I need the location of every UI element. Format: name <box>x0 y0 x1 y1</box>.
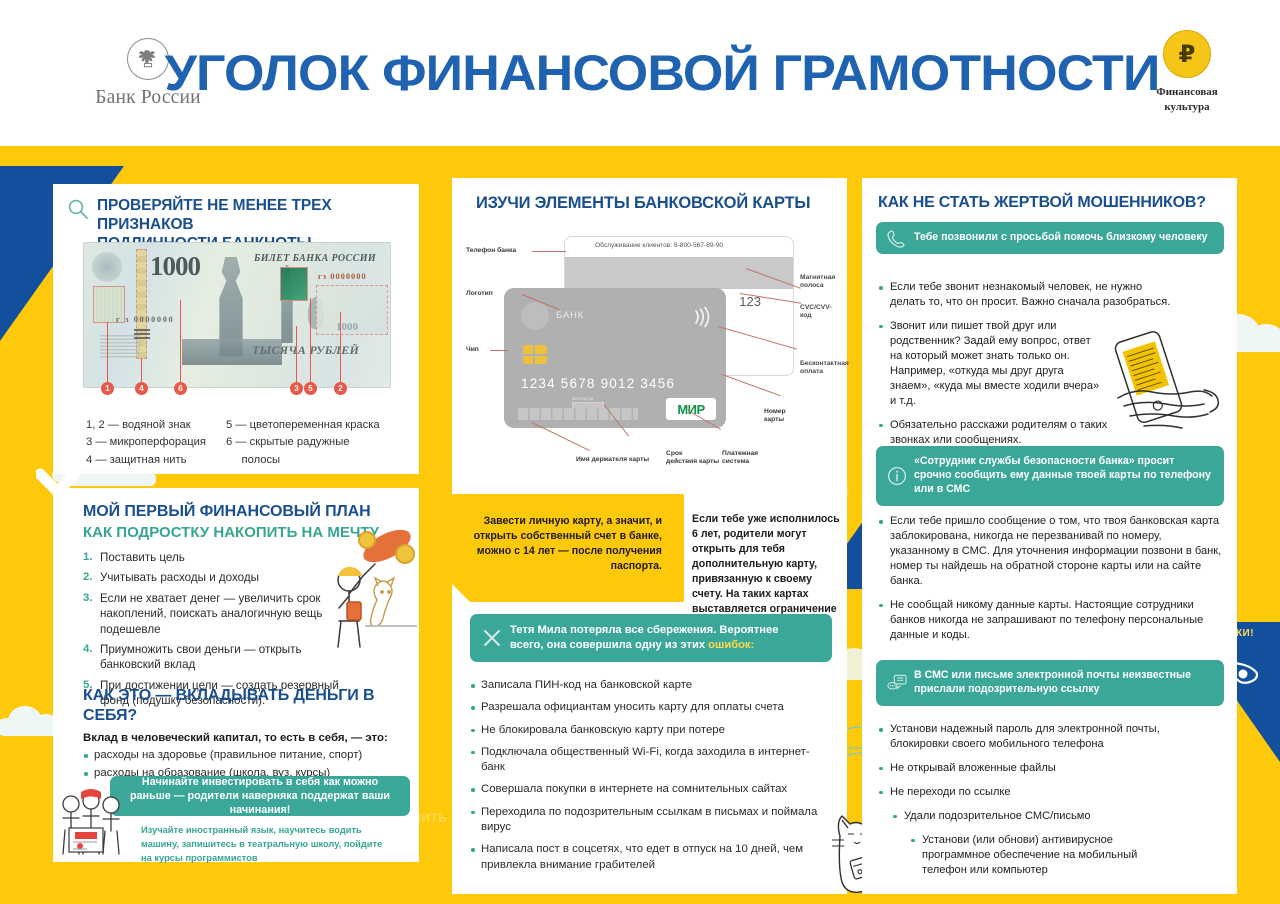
list-item: Записала ПИН-код на банковской карте <box>470 678 830 693</box>
leader-line-3 <box>296 326 297 382</box>
step-number: 3. <box>83 591 93 606</box>
fraud-list-1: Если тебе звонит незнакомый человек, не … <box>878 280 1178 457</box>
poster-header: Банк России УГОЛОК ФИНАНСОВОЙ ГРАМОТНОСТ… <box>0 0 1280 146</box>
leader-line-1 <box>107 322 108 382</box>
list-item: Установи (или обнови) антивирусное прогр… <box>910 833 1172 878</box>
list-item: Совершала покупки в интернете на сомните… <box>470 782 830 797</box>
plan-title: МОЙ ПЕРВЫЙ ФИНАНСОВЫЙ ПЛАН <box>83 502 393 522</box>
card-front: БАНК 1234 5678 9012 3456 месяц/год МИР <box>504 288 726 428</box>
finkult-label: Финансовая культура <box>1156 85 1217 115</box>
step-number: 4. <box>83 642 93 657</box>
card-diagram: Обслуживание клиентов: 8-800-567-89-90 К… <box>460 222 840 490</box>
list-item: Не переходи по ссылке <box>878 785 1218 800</box>
card-expiry-label: месяц/год <box>572 396 593 401</box>
list-item: Не сообщай никому данные карты. Настоящи… <box>878 598 1222 643</box>
poster-body: У МЕНЯ ЕСТЬМЕЧТА! ДЛЯ ЧЕГОКОПИТЬ? ПИН-КО… <box>0 146 1280 904</box>
label-logo: Логотип <box>466 290 493 298</box>
chat-icon <box>887 673 907 693</box>
step-number: 1. <box>83 550 93 565</box>
financial-plan-panel: МОЙ ПЕРВЫЙ ФИНАНСОВЫЙ ПЛАН КАК ПОДРОСТКУ… <box>53 488 419 862</box>
banknote-title-line1: ПРОВЕРЯЙТЕ НЕ МЕНЕЕ ТРЕХ ПРИЗНАКОВ <box>97 197 407 235</box>
banknote-colorshift-patch <box>280 267 308 301</box>
card-chip <box>523 345 547 364</box>
card-number: 1234 5678 9012 3456 <box>521 376 711 391</box>
legend-item: 5 — цветопеременная краска <box>226 417 380 434</box>
fraud-panel-title: КАК НЕ СТАТЬ ЖЕРТВОЙ МОШЕННИКОВ? <box>878 194 1206 212</box>
list-item: Разрешала официантам уносить карту для о… <box>470 700 830 715</box>
fraud-banner-3: В СМС или письме электронной почты неизв… <box>876 660 1224 706</box>
step-text: Учитывать расходы и доходы <box>100 571 259 584</box>
legend-item: 4 — защитная нить <box>86 452 206 469</box>
legend-item: 1, 2 — водяной знак <box>86 417 206 434</box>
card-payment-system-logo: МИР <box>666 398 716 420</box>
list-item: Если тебе звонит незнакомый человек, не … <box>878 280 1178 310</box>
mistakes-banner-line1: Тетя Мила потеряла все сбережения. Вероя… <box>510 624 778 636</box>
banknote-marker-5: 5 <box>304 382 317 395</box>
banknote-marker-3: 3 <box>290 382 303 395</box>
fraud-panel: КАК НЕ СТАТЬ ЖЕРТВОЙ МОШЕННИКОВ? Тебе по… <box>862 178 1237 894</box>
cross-icon <box>482 628 502 648</box>
banknote-serial-top: гз 0000000 <box>318 272 367 281</box>
banknote-serial-left: г з 0000000 <box>116 315 174 324</box>
banknote-image: 1000 БИЛЕТ БАНКА РОССИИ гз 0000000 1000 … <box>83 242 391 388</box>
banknote-marker-1: 1 <box>101 382 114 395</box>
card-panel-title: ИЗУЧИ ЭЛЕМЕНТЫ БАНКОВСКОЙ КАРТЫ <box>476 194 810 213</box>
banknote-legend: 1, 2 — водяной знак 3 — микроперфорация … <box>86 417 406 469</box>
info-icon <box>887 466 907 486</box>
search-icon <box>67 198 89 220</box>
card-support-phone: Обслуживание клиентов: 8-800-567-89-90 <box>595 242 723 249</box>
leader-phone <box>532 251 566 252</box>
invest-footnote: Изучайте иностранный язык, научитесь вод… <box>141 824 391 866</box>
leader-line-4 <box>141 358 142 382</box>
fraud-banner-1-text: Тебе позвонили с просьбой помочь близком… <box>914 231 1208 243</box>
banknote-panel: ПРОВЕРЯЙТЕ НЕ МЕНЕЕ ТРЕХ ПРИЗНАКОВ ПОДЛИ… <box>53 184 419 474</box>
list-item: Установи надежный пароль для электронной… <box>878 722 1218 752</box>
step-text: Приумножить свои деньги — открыть банков… <box>100 643 302 671</box>
list-item: Подключала общественный Wi-Fi, когда зах… <box>470 745 830 776</box>
contactless-icon <box>690 306 712 328</box>
finkult-logo: ₽ Финансовая культура <box>1128 30 1246 115</box>
card-bank-logo-circle <box>521 302 549 330</box>
invest-title: КАК ЭТО — ВКЛАДЫВАТЬ ДЕНЬГИ В СЕБЯ? <box>83 686 393 725</box>
banknote-legend-right: 5 — цветопеременная краска 6 — скрытые р… <box>226 417 380 469</box>
leader-chip <box>490 350 508 351</box>
leader-line-5 <box>310 298 311 382</box>
mistakes-banner-line2: всего, она совершила одну из этих <box>510 639 708 651</box>
label-expiry: Срок действия карты <box>666 450 719 467</box>
fraud-banner-2-text: «Сотрудник службы безопасности банка» пр… <box>914 455 1211 495</box>
mistakes-list: Записала ПИН-код на банковской карте Раз… <box>470 678 830 880</box>
step-text: Если не хватает денег — увеличить срок н… <box>100 592 322 636</box>
list-item: 4.Приумножить свои деньги — открыть банк… <box>83 642 351 673</box>
list-item: Удали подозрительное СМС/письмо <box>892 809 1218 824</box>
ruble-coin-icon: ₽ <box>1163 30 1211 78</box>
list-item: 1.Поставить цель <box>83 550 351 565</box>
leader-line-6 <box>180 300 181 382</box>
bank-card-panel: ИЗУЧИ ЭЛЕМЕНТЫ БАНКОВСКОЙ КАРТЫ Обслужив… <box>452 178 847 894</box>
yellow-note-text: Завести личную карту, а значит, и открыт… <box>472 514 662 574</box>
fraud-banner-3-text: В СМС или письме электронной почты неизв… <box>914 669 1191 695</box>
plan-subtitle: КАК ПОДРОСТКУ НАКОПИТЬ НА МЕЧТУ <box>83 524 393 542</box>
list-item: 2.Учитывать расходы и доходы <box>83 570 351 585</box>
banknote-marker-2: 2 <box>334 382 347 395</box>
page-title: УГОЛОК ФИНАНСОВОЙ ГРАМОТНОСТИ <box>204 34 1119 112</box>
label-chip: Чип <box>466 346 479 354</box>
invest-callout-banner: Начинайте инвестировать в себя как можно… <box>110 776 410 816</box>
label-contactless: Бесконтактная оплата <box>800 360 849 377</box>
fraud-list-2: Если тебе пришло сообщение о том, что тв… <box>878 514 1222 652</box>
label-phone: Телефон банка <box>466 247 516 255</box>
label-cvv: CVC/CVV-код <box>800 304 840 321</box>
list-item: Обязательно расскажи родителям о таких з… <box>878 418 1108 448</box>
step-number: 2. <box>83 570 93 585</box>
mistakes-banner-text: Тетя Мила потеряла все сбережения. Вероя… <box>510 623 778 652</box>
list-item: 3.Если не хватает денег — увеличить срок… <box>83 591 351 637</box>
legend-item: полосы <box>226 452 380 469</box>
mistakes-banner-highlight: ошибок: <box>708 639 754 651</box>
card-bank-word: БАНК <box>556 310 584 321</box>
banknote-seal <box>92 252 122 282</box>
banknote-denomination: 1000 <box>150 251 200 282</box>
card-holder-name-box <box>518 408 638 420</box>
invest-lead: Вклад в человеческий капитал, то есть в … <box>83 732 393 744</box>
finkult-line2: культура <box>1156 100 1217 115</box>
list-item: Если тебе пришло сообщение о том, что тв… <box>878 514 1222 589</box>
banknote-tactile-marks <box>134 329 150 341</box>
banknote-bank-line: БИЛЕТ БАНКА РОССИИ <box>254 253 376 264</box>
banknote-value-words: ТЫСЯЧА РУБЛЕЙ <box>252 343 359 358</box>
fraud-banner-2: «Сотрудник службы безопасности банка» пр… <box>876 446 1224 506</box>
banknote-legend-left: 1, 2 — водяной знак 3 — микроперфорация … <box>86 417 206 469</box>
fraud-list-3: Установи надежный пароль для электронной… <box>878 722 1218 887</box>
legend-item: 3 — микроперфорация <box>86 434 206 451</box>
list-item: Звонит или пишет твой друг или родственн… <box>878 319 1100 409</box>
label-magstripe: Магнитная полоса <box>800 274 835 291</box>
fraud-banner-1: Тебе позвонили с просьбой помочь близком… <box>876 222 1224 254</box>
legend-item: 6 — скрытые радужные <box>226 434 380 451</box>
double-eagle-emblem-icon <box>127 38 169 80</box>
list-item: Переходила по подозрительным ссылкам в п… <box>470 805 830 836</box>
list-item: Не блокировала банковскую карту при поте… <box>470 723 830 738</box>
banknote-marker-6: 6 <box>174 382 187 395</box>
leader-line-2 <box>340 312 341 382</box>
mistakes-banner: Тетя Мила потеряла все сбережения. Вероя… <box>470 614 832 662</box>
list-item: Написала пост в соцсетях, что едет в отп… <box>470 842 830 873</box>
label-cardnumber: Номер карты <box>764 408 786 425</box>
list-item: Не открывай вложенные файлы <box>878 761 1218 776</box>
label-holder: Имя держателя карты <box>576 456 649 464</box>
phone-icon <box>887 228 907 248</box>
leader-cardnumber <box>722 374 781 396</box>
list-item: расходы на здоровье (правильное питание,… <box>83 748 393 763</box>
label-paysystem: Платежная система <box>722 450 758 467</box>
step-text: Поставить цель <box>100 551 185 564</box>
banknote-illustration: 1000 БИЛЕТ БАНКА РОССИИ гз 0000000 1000 … <box>83 242 391 388</box>
finkult-line1: Финансовая <box>1156 85 1217 100</box>
banknote-marker-4: 4 <box>135 382 148 395</box>
